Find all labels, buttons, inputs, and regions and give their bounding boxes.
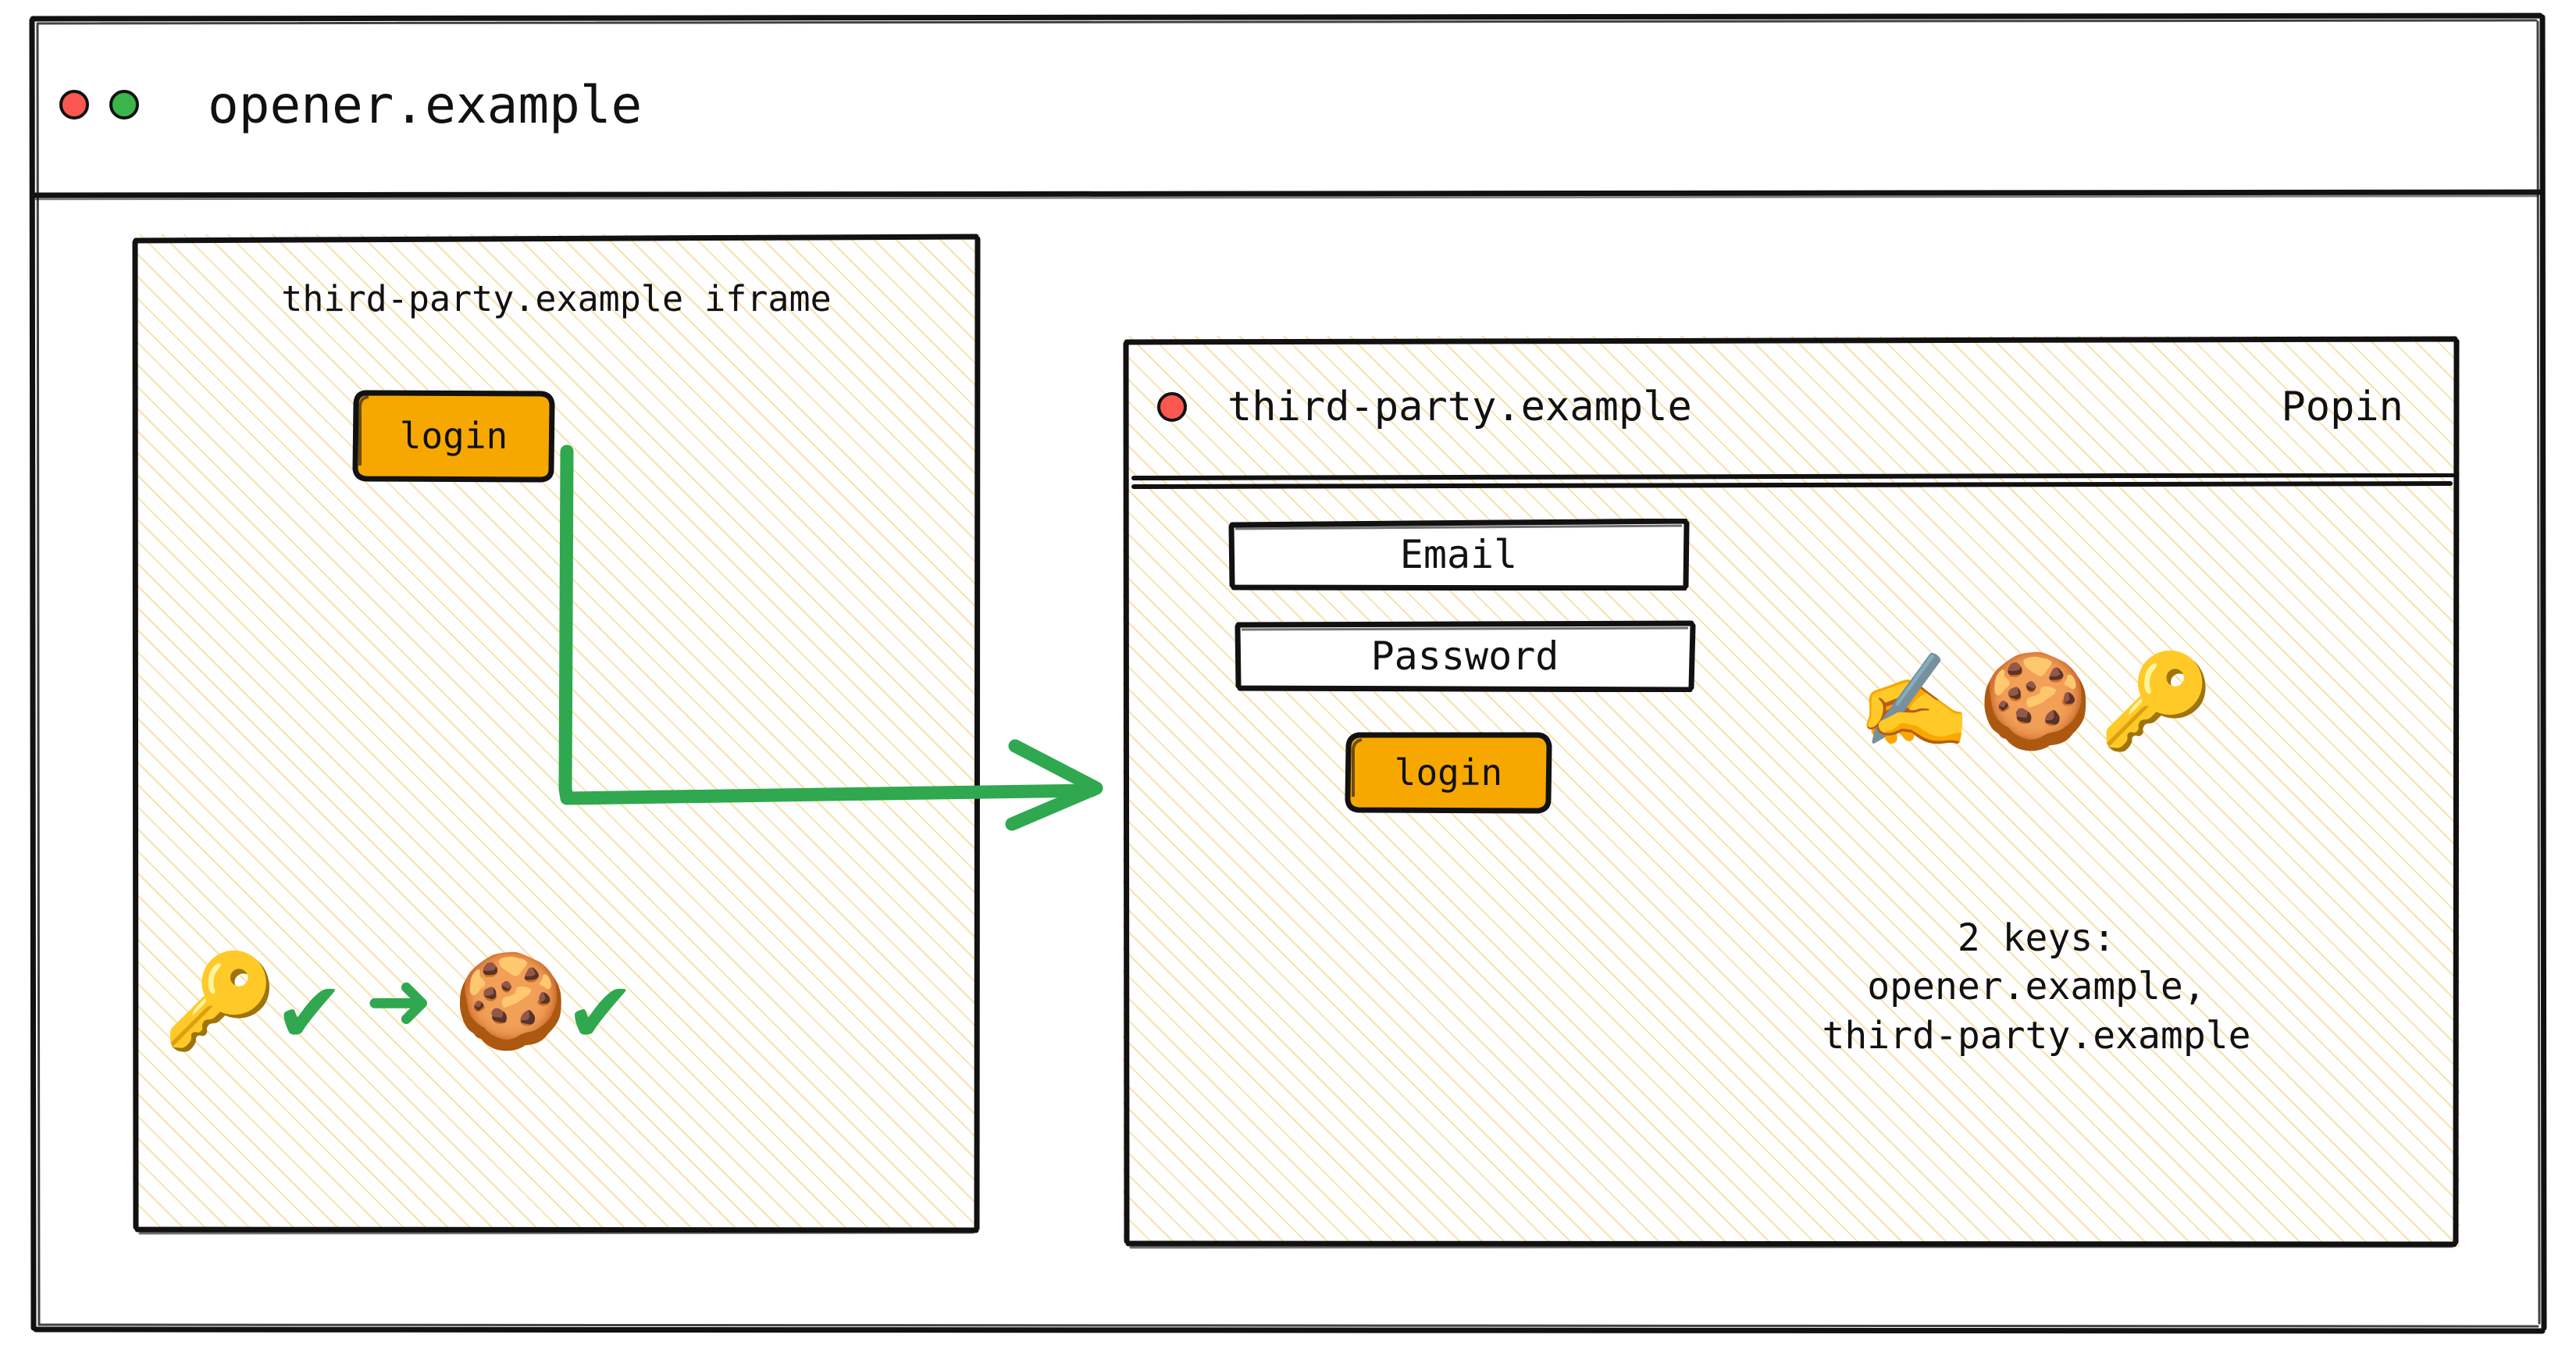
key-check-icon: ✔ xyxy=(274,972,345,1056)
title-bar: opener.example xyxy=(30,14,2546,195)
third-party-iframe-panel: third-party.example iframe login 🔑 ✔ ➜ 🍪… xyxy=(133,234,980,1233)
popup-keys-note: 2 keys: opener.example, third-party.exam… xyxy=(1724,914,2349,1060)
cookie-icon: 🍪 xyxy=(1978,655,2093,747)
cookie-check-icon: ✔ xyxy=(565,972,636,1056)
popup-close-dot[interactable] xyxy=(1157,392,1187,422)
browser-window: opener.example third-party.example ifram… xyxy=(30,14,2546,1333)
writing-hand-icon: ✍️ xyxy=(1857,655,1972,747)
iframe-storage-row: 🔑 ✔ ➜ 🍪 ✔ xyxy=(162,945,636,1056)
key-icon: 🔑 xyxy=(2099,655,2214,747)
password-field-label: Password xyxy=(1371,633,1559,679)
key-icon: 🔑 xyxy=(162,955,277,1047)
popup-origin-label: third-party.example xyxy=(1227,384,1692,430)
password-field[interactable]: Password xyxy=(1238,625,1691,687)
storage-arrow-icon: ➜ xyxy=(365,960,433,1041)
popup-emoji-row: ✍️ 🍪 🔑 xyxy=(1857,655,2214,747)
popup-login-button-label: login xyxy=(1395,751,1502,794)
iframe-panel-border xyxy=(133,234,980,1233)
cookie-icon: 🍪 xyxy=(454,955,568,1047)
close-dot[interactable] xyxy=(59,90,89,120)
popup-kind-label: Popin xyxy=(2281,384,2403,430)
page-title: opener.example xyxy=(208,75,642,135)
iframe-login-button[interactable]: login xyxy=(356,392,551,480)
iframe-login-button-label: login xyxy=(400,415,508,457)
maximize-dot[interactable] xyxy=(109,90,139,120)
email-field-label: Email xyxy=(1400,532,1518,577)
popup-login-button[interactable]: login xyxy=(1348,734,1549,811)
iframe-label: third-party.example iframe xyxy=(133,278,980,319)
popup-header: third-party.example Popin xyxy=(1123,336,2460,478)
popup-window: third-party.example Popin Email xyxy=(1123,336,2460,1247)
email-field[interactable]: Email xyxy=(1232,523,1685,586)
